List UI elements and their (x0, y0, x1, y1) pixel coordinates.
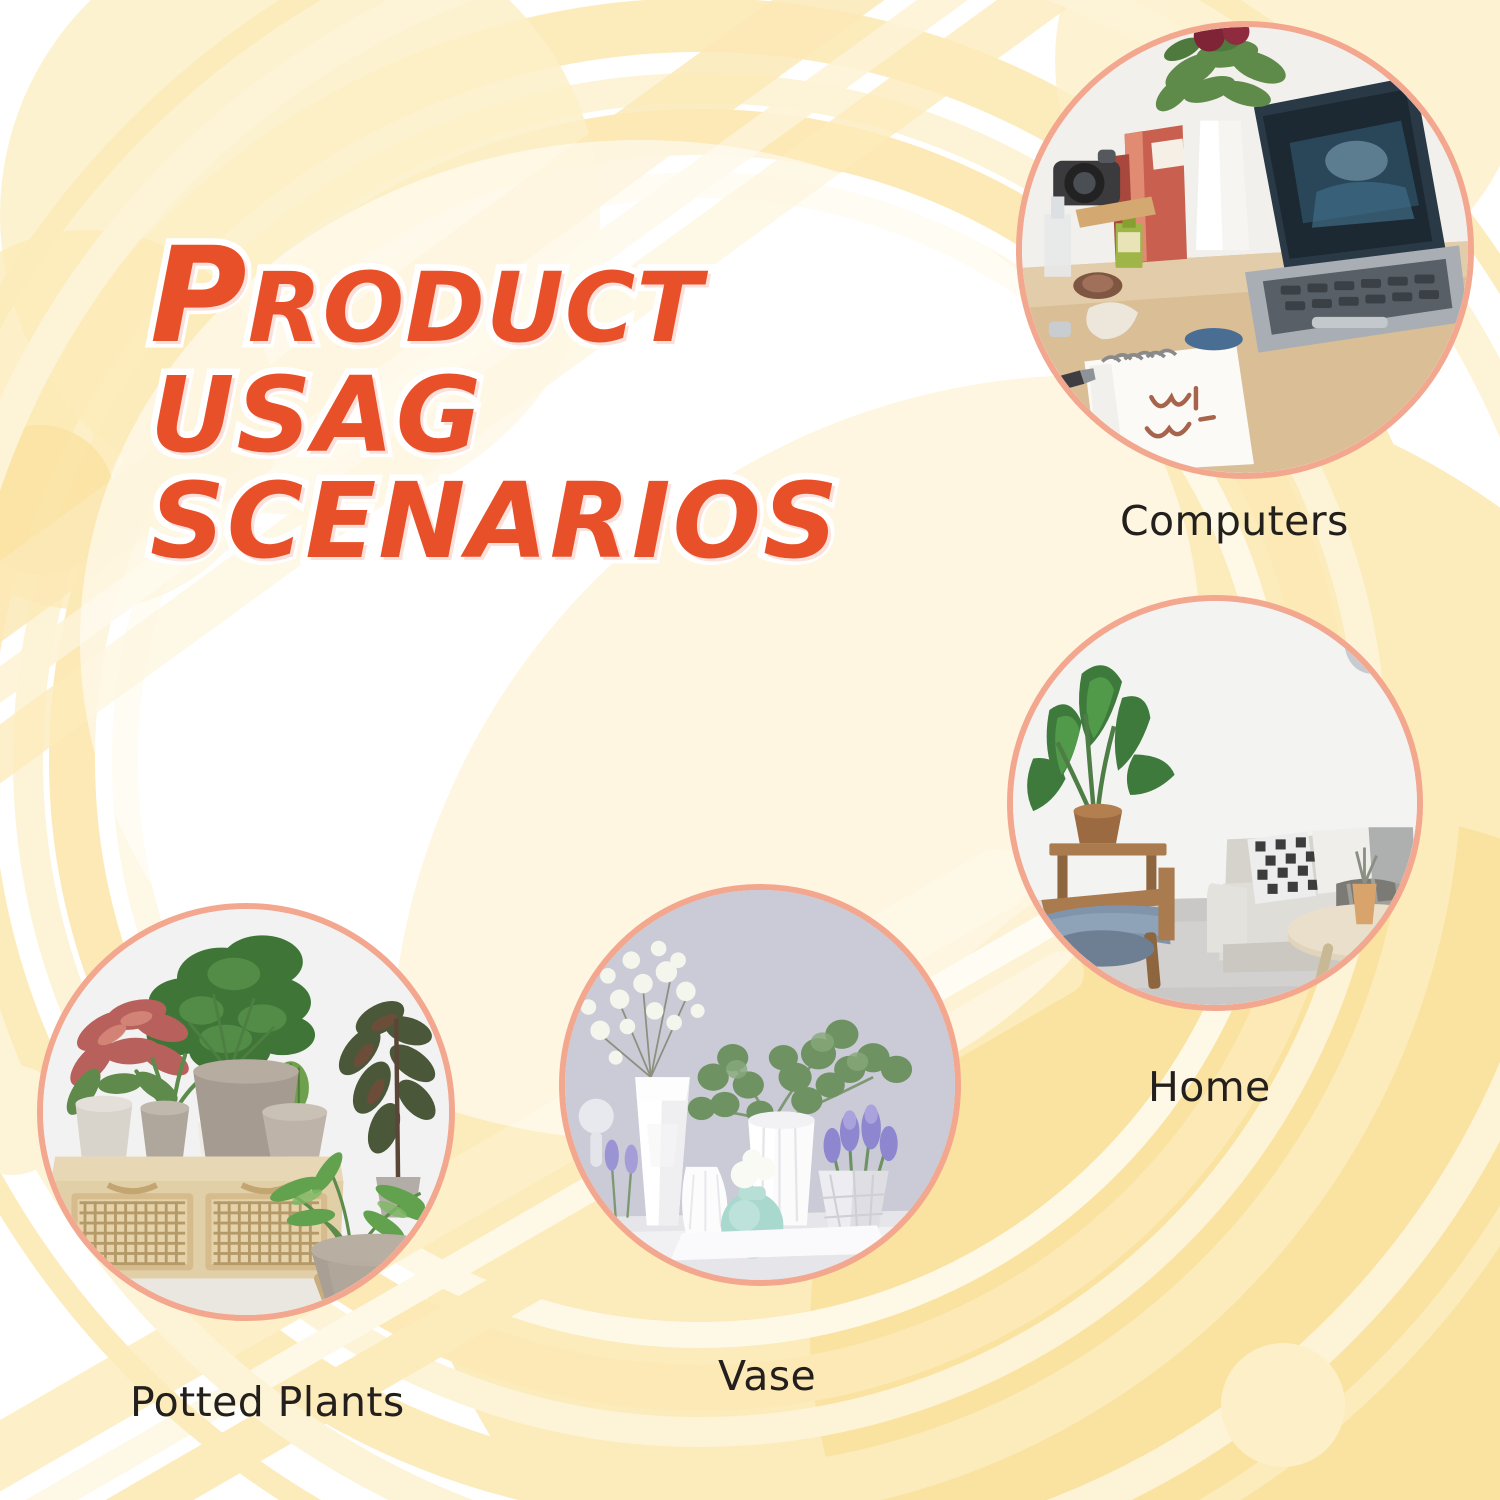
product-usage-scenarios-poster: PRODUCT USAG SCENARIOS (0, 0, 1500, 1500)
scenario-circle-computers[interactable] (1016, 21, 1474, 479)
potted-plants-icon (43, 909, 449, 1315)
title-line-3: SCENARIOS (150, 471, 970, 573)
home-photo (1013, 601, 1417, 1005)
scenario-circle-vase[interactable] (559, 884, 961, 1286)
label-home: Home (1148, 1063, 1271, 1111)
scenario-circle-home[interactable] (1007, 595, 1423, 1011)
living-room-icon (1013, 601, 1417, 1005)
label-computers: Computers (1120, 497, 1349, 545)
label-vase: Vase (718, 1352, 816, 1400)
bg-dot-bottom-right (1221, 1343, 1345, 1467)
title-line1-capital: P (150, 219, 248, 373)
vase-photo (565, 890, 955, 1280)
label-potted-plants: Potted Plants (130, 1378, 405, 1426)
title-line-1: PRODUCT (150, 232, 970, 361)
title-line1-rest: RODUCT (248, 252, 703, 364)
potted-plants-photo (43, 909, 449, 1315)
home-office-desk-icon (1022, 27, 1468, 473)
scenario-circle-potted-plants[interactable] (37, 903, 455, 1321)
title-line-2: USAG (150, 365, 970, 467)
poster-title: PRODUCT USAG SCENARIOS (150, 232, 970, 573)
ceramic-vases-icon (565, 890, 955, 1280)
computers-photo (1022, 27, 1468, 473)
